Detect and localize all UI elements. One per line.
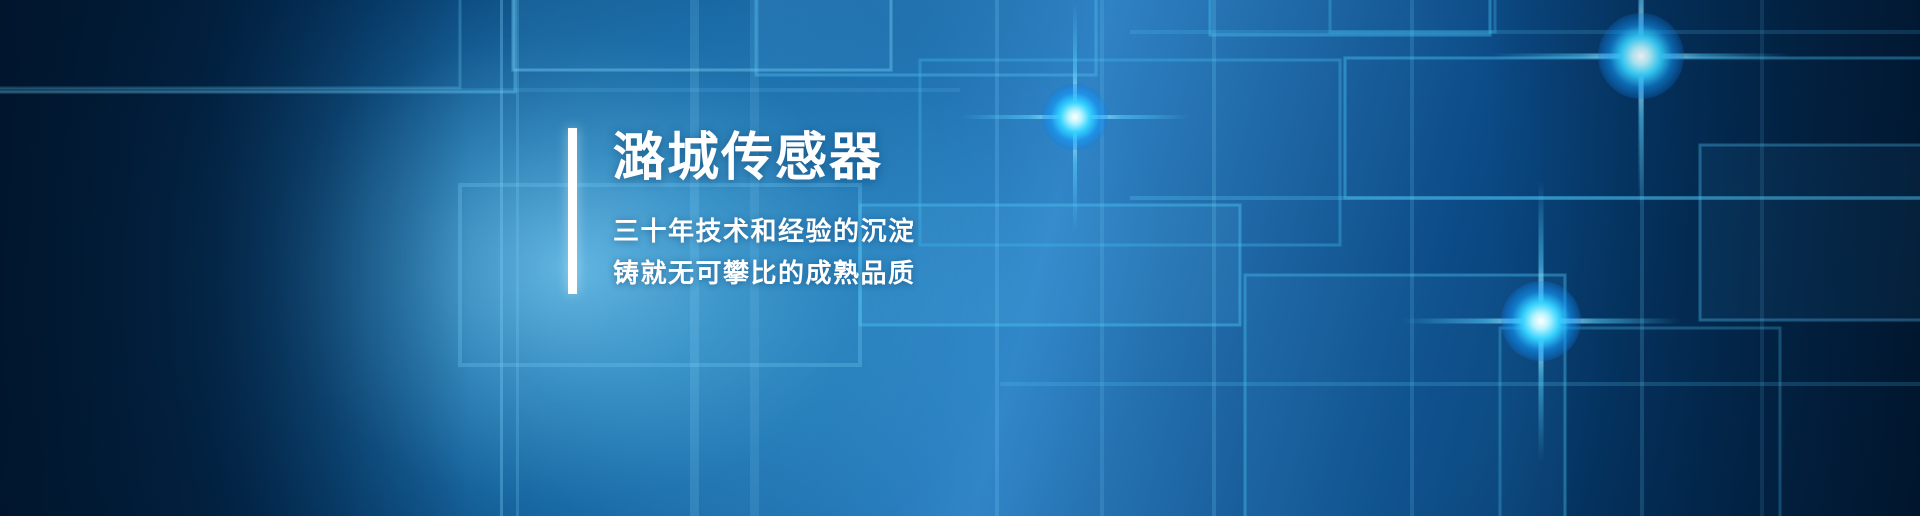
white-vertical-accent-bar <box>568 128 577 294</box>
banner-title: 潞城传感器 <box>613 130 916 186</box>
banner-subtitle-line-2: 铸就无可攀比的成熟品质 <box>613 252 916 294</box>
banner-subtitle-line-1: 三十年技术和经验的沉淀 <box>613 210 916 252</box>
banner-text-column: 潞城传感器 三十年技术和经验的沉淀 铸就无可攀比的成熟品质 <box>613 128 916 294</box>
banner-content: 潞城传感器 三十年技术和经验的沉淀 铸就无可攀比的成熟品质 <box>568 128 916 294</box>
background-vignette <box>0 0 1920 516</box>
hero-banner: 潞城传感器 三十年技术和经验的沉淀 铸就无可攀比的成熟品质 <box>0 0 1920 516</box>
